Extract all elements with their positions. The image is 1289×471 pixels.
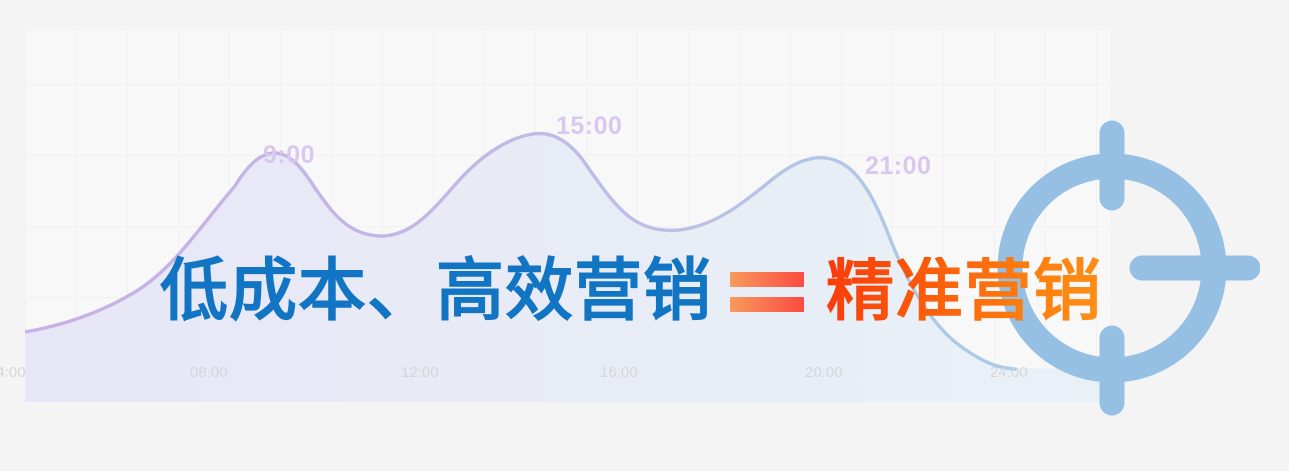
x-axis-tick-1600: 16:00 [600,364,638,381]
x-axis-tick-2000: 20:00 [805,364,843,381]
peak-annotation-9pm: 21:00 [865,152,931,181]
headline-orange-text: 精准营销 [826,257,1102,325]
x-axis-tick-0400: 04:00 [0,364,26,381]
banner-root: 9:00 15:00 21:00 04:00 08:00 12:00 16:00… [0,0,1289,471]
area-chart [25,30,1110,402]
equals-bar-top [730,272,804,287]
equals-sign-icon [730,272,804,312]
chart-card: 9:00 15:00 21:00 [25,30,1110,402]
x-axis-tick-1200: 12:00 [401,364,439,381]
headline: 低成本、高效营销 精准营销 [0,248,1289,334]
headline-blue-text: 低成本、高效营销 [160,257,712,325]
peak-annotation-3pm: 15:00 [556,112,622,141]
x-axis-tick-0800: 08:00 [190,364,228,381]
equals-bar-bottom [730,297,804,312]
peak-annotation-9am: 9:00 [263,141,315,170]
